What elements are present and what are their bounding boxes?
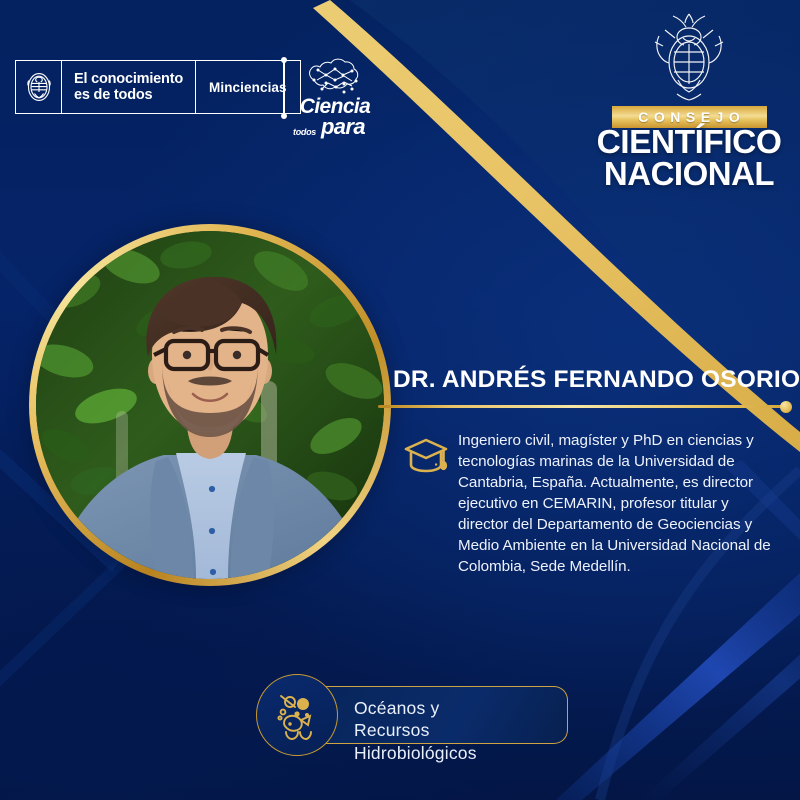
consejo-line-nacional: NACIONAL xyxy=(578,159,800,189)
minciencias-logo: El conocimiento es de todos Minciencias xyxy=(15,60,301,114)
network-brain-icon xyxy=(292,58,378,100)
minciencias-slogan: El conocimiento es de todos xyxy=(62,61,196,113)
graduation-cap-icon xyxy=(403,436,449,479)
topic-line-2: Hidrobiológicos xyxy=(354,742,477,764)
cpt-word-para: todos xyxy=(293,127,316,137)
ciencia-para-todos-logo: Ciencia para todos xyxy=(292,58,378,138)
bio-block: Ingeniero civil, magíster y PhD en cienc… xyxy=(403,430,778,577)
divider-dot xyxy=(780,401,792,413)
consejo-cientifico-nacional-logo: CONSEJO CIENTÍFICO NACIONAL xyxy=(578,8,800,189)
topic-line-1: Océanos y Recursos xyxy=(354,697,477,742)
colombia-coat-of-arms-icon xyxy=(578,8,800,104)
bio-text: Ingeniero civil, magíster y PhD en cienc… xyxy=(458,430,778,577)
logo-divider xyxy=(283,60,285,116)
colombia-coat-of-arms-icon xyxy=(16,61,62,113)
avatar xyxy=(29,224,391,586)
topic-badge-text: Océanos y Recursos Hidrobiológicos xyxy=(354,697,477,764)
slogan-line-2: es de todos xyxy=(74,87,183,103)
ocean-fish-bubbles-icon xyxy=(256,674,338,756)
portrait-photo xyxy=(36,231,384,579)
cpt-word-todos: para xyxy=(308,117,378,138)
slogan-line-1: El conocimiento xyxy=(74,71,183,87)
gold-divider xyxy=(378,405,786,408)
page-title: DR. ANDRÉS FERNANDO OSORIO xyxy=(393,366,800,394)
poster-canvas: El conocimiento es de todos Minciencias xyxy=(0,0,800,800)
